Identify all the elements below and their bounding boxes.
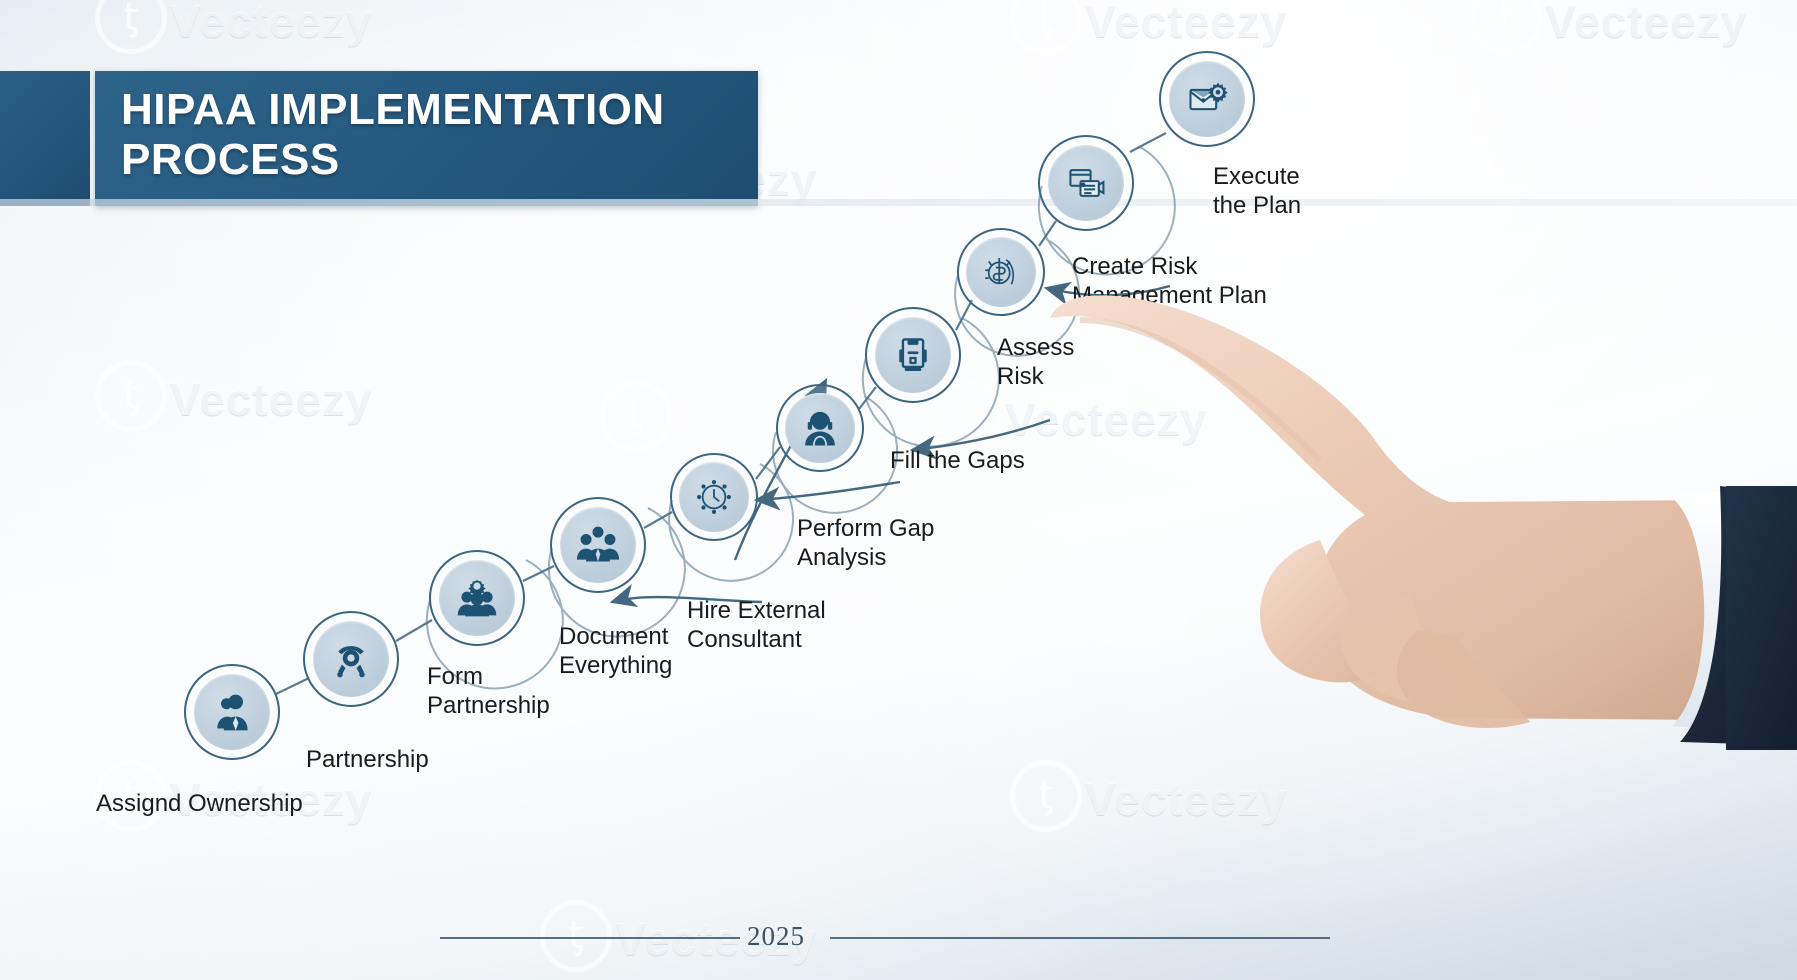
process-node-5[interactable]	[670, 453, 758, 541]
process-label-5: Hire External Consultant	[687, 596, 826, 654]
process-node-2[interactable]	[303, 611, 399, 707]
process-node-9[interactable]	[1038, 135, 1134, 231]
process-node-3[interactable]	[429, 550, 525, 646]
person-manager-icon	[210, 690, 254, 734]
watermark-text: Vecteezy	[170, 0, 372, 48]
mail-gear-icon	[1185, 77, 1229, 121]
page-title-line1: HIPAA IMPLEMENTATION	[121, 85, 758, 135]
clipboard-checklist-icon	[891, 333, 935, 377]
process-label-10: Execute the Plan	[1213, 162, 1301, 220]
watermark-text: Vecteezy	[1545, 0, 1747, 48]
hand-pointing-graphic	[1020, 290, 1797, 750]
node-disc	[439, 560, 515, 636]
handshake-gear-icon	[329, 637, 373, 681]
node-disc	[560, 507, 636, 583]
clock-gear-icon	[693, 476, 735, 518]
watermark-logo	[600, 380, 672, 452]
title-accent-strip	[0, 71, 90, 206]
process-node-4[interactable]	[550, 497, 646, 593]
process-label-2: Partnership	[306, 745, 429, 774]
node-disc	[313, 621, 389, 697]
page-title: HIPAA IMPLEMENTATION PROCESS	[95, 71, 758, 206]
process-label-7: Fill the Gaps	[890, 446, 1025, 475]
process-node-7[interactable]	[865, 307, 961, 403]
title-underline	[0, 199, 1797, 206]
group-team-icon	[576, 523, 620, 567]
process-label-3: Form Partnership	[427, 662, 550, 720]
process-node-1[interactable]	[184, 664, 280, 760]
node-disc	[1048, 145, 1124, 221]
watermark-logo	[1470, 0, 1542, 54]
page-title-line2: PROCESS	[121, 135, 758, 185]
process-label-1: Assignd Ownership	[96, 789, 303, 818]
watermark-logo	[1010, 0, 1082, 54]
node-disc	[1169, 61, 1245, 137]
watermark-logo	[540, 900, 612, 972]
footer-year: 2025	[747, 921, 805, 952]
process-node-6[interactable]	[776, 384, 864, 472]
watermark-text: Vecteezy	[1085, 0, 1287, 48]
support-agent-icon	[799, 407, 841, 449]
watermark-logo	[1010, 760, 1082, 832]
process-label-6: Perform Gap Analysis	[797, 514, 934, 572]
process-node-10[interactable]	[1159, 51, 1255, 147]
node-disc	[785, 393, 855, 463]
infographic-canvas: Vecteezy Vecteezy Vecteezy Vecteezy Vect…	[0, 0, 1797, 980]
watermark-logo	[95, 0, 167, 54]
watermark-text: Vecteezy	[170, 372, 372, 426]
process-label-4: Document Everything	[559, 622, 672, 680]
money-risk-icon	[980, 251, 1022, 293]
node-disc	[679, 462, 749, 532]
footer-line-right	[830, 937, 1330, 939]
footer-line-left	[440, 937, 740, 939]
watermark-logo	[95, 360, 167, 432]
node-disc	[194, 674, 270, 750]
team-gear-icon	[455, 576, 499, 620]
watermark-text: Vecteezy	[1085, 772, 1287, 826]
node-disc	[875, 317, 951, 393]
documents-video-icon	[1064, 161, 1108, 205]
